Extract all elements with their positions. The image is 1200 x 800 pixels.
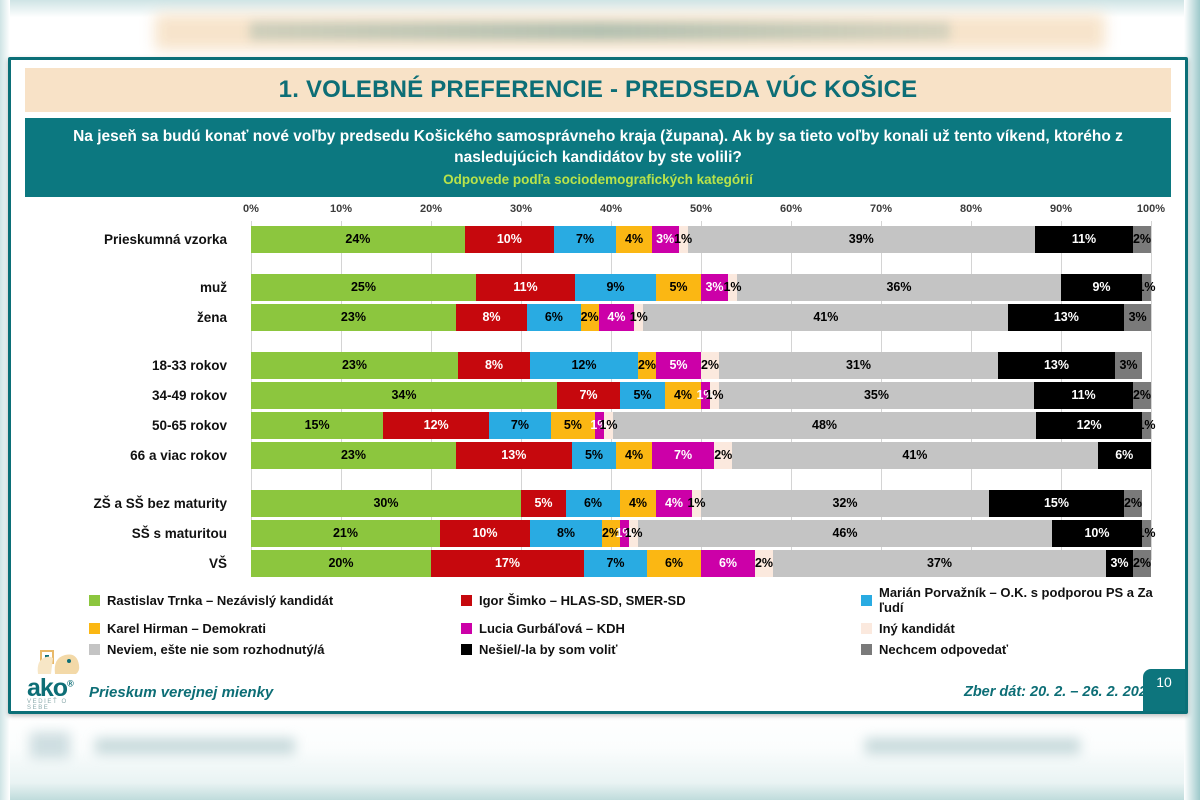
bar-segment[interactable]: 5% [551,412,595,439]
bar-segment-label: 2% [1124,496,1142,510]
chart-row: SŠ s maturitou21%10%8%2%1%1%46%10%1% [11,520,1185,547]
bar-segment[interactable]: 2% [701,352,719,379]
bar-segment[interactable]: 6% [701,550,755,577]
bar-segment[interactable]: 15% [989,490,1124,517]
legend-swatch [861,595,872,606]
legend-swatch [861,623,872,634]
bar-segment-label: 3% [705,280,723,294]
bar-segment-label: 10% [497,232,522,246]
bar-segment[interactable]: 5% [656,352,701,379]
bar-segment-label: 5% [669,358,687,372]
bar-segment-label: 6% [665,556,683,570]
bar-segment-label: 12% [571,358,596,372]
chart-row-label: žena [15,310,237,325]
logo-tagline: VEDIEŤ O SEBE [27,699,87,711]
bar-segment-label: 4% [625,448,643,462]
chart-row-label: 66 a viac rokov [15,448,237,463]
bar-segment[interactable]: 1% [1142,274,1151,301]
bar-segment-label: 6% [584,496,602,510]
legend-swatch [461,623,472,634]
bar-segment[interactable]: 6% [527,304,580,331]
bar-segment[interactable]: 39% [688,226,1035,253]
question-text: Na jeseň sa budú konať nové voľby predse… [55,127,1141,169]
slide-card: 1. VOLEBNÉ PREFERENCIE - PREDSEDA VÚC KO… [8,57,1188,714]
bar-segment[interactable]: 2% [638,352,656,379]
bar-segment-label: 5% [633,388,651,402]
question-subtitle: Odpovede podľa sociodemografických kateg… [55,172,1141,187]
bar-segment-label: 8% [557,526,575,540]
bar-segment[interactable]: 41% [643,304,1008,331]
bar-segment-label: 12% [424,418,449,432]
bar-segment-label: 41% [902,448,927,462]
bar-segment[interactable]: 10% [440,520,530,547]
bar-segment-label: 2% [581,310,599,324]
bar-segment[interactable]: 6% [566,490,620,517]
ghost-bottom-area [0,714,1200,800]
x-axis-tick: 0% [243,203,259,215]
bar-segment-label: 15% [305,418,330,432]
legend-label: Iný kandidát [879,621,955,636]
bar-segment-label: 5% [534,496,552,510]
bar-segment[interactable]: 11% [476,274,575,301]
bar-segment[interactable]: 23% [251,304,456,331]
bar-segment[interactable]: 12% [383,412,489,439]
bar-segment-label: 15% [1044,496,1069,510]
bar-segment[interactable]: 5% [620,382,665,409]
chart-row-label: SŠ s maturitou [15,526,237,541]
bar-segment-label: 2% [714,448,732,462]
legend-label: Marián Porvažník – O.K. s podporou PS a … [879,585,1165,615]
bar-segment-label: 7% [674,448,692,462]
bar-segment[interactable]: 3% [1115,352,1142,379]
legend-item[interactable]: Marián Porvažník – O.K. s podporou PS a … [861,585,1165,615]
bar-segment-label: 23% [341,310,366,324]
x-axis-tick: 80% [960,203,982,215]
bar-segment-label: 4% [607,310,625,324]
ghost-title-text [250,22,950,40]
bar-segment-label: 25% [351,280,376,294]
bar-segment-label: 6% [1115,448,1133,462]
bar-segment[interactable]: 5% [656,274,701,301]
bar-segment-label: 9% [1092,280,1110,294]
bar-segment-label: 3% [1129,310,1147,324]
bar-segment-label: 10% [1084,526,1109,540]
bar-segment[interactable]: 2% [755,550,773,577]
bar-segment[interactable]: 2% [581,304,599,331]
bar-segment[interactable]: 8% [530,520,602,547]
bar-segment-label: 35% [864,388,889,402]
bar-segment[interactable]: 4% [616,442,652,469]
bar-segment[interactable]: 1% [1142,412,1151,439]
bar-segment[interactable]: 3% [1106,550,1133,577]
stacked-bar[interactable]: 15%12%7%5%1%1%48%12%1% [251,412,1151,439]
bar-segment-label: 23% [341,448,366,462]
bar-segment[interactable]: 4% [620,490,656,517]
x-axis-tick: 90% [1050,203,1072,215]
bar-segment[interactable]: 2% [1133,382,1151,409]
chart-row-label: 50-65 rokov [15,418,237,433]
bar-segment-label: 6% [545,310,563,324]
bar-segment[interactable]: 25% [251,274,476,301]
bar-segment[interactable]: 34% [251,382,557,409]
x-axis-tick: 70% [870,203,892,215]
bar-segment-label: 4% [674,388,692,402]
legend-swatch [89,623,100,634]
bar-segment-label: 1% [723,280,741,294]
chart-row-label: VŠ [15,556,237,571]
bar-segment-label: 1% [630,310,648,324]
legend-label: Lucia Gurbáľová – KDH [479,621,625,636]
stacked-bar[interactable]: 34%7%5%4%1%1%35%11%2% [251,382,1151,409]
bar-segment-label: 6% [719,556,737,570]
bar-segment-label: 2% [1133,388,1151,402]
stacked-bar[interactable]: 23%13%5%4%7%2%41%6% [251,442,1151,469]
bar-segment-label: 1% [705,388,723,402]
chart-row: Prieskumná vzorka24%10%7%4%3%1%39%11%2% [11,226,1185,253]
bar-segment-label: 2% [1133,232,1151,246]
bar-segment[interactable]: 9% [1061,274,1142,301]
chart-row: 50-65 rokov15%12%7%5%1%1%48%12%1% [11,412,1185,439]
bar-segment[interactable]: 6% [647,550,701,577]
bar-segment-label: 3% [656,232,674,246]
bar-segment-label: 7% [576,232,594,246]
legend-item[interactable]: Neviem, ešte nie som rozhodnutý/á [89,642,461,657]
chart-row-label: 18-33 rokov [15,358,237,373]
bar-segment-label: 36% [886,280,911,294]
bar-segment-label: 1% [674,232,692,246]
bar-segment-label: 24% [345,232,370,246]
bar-segment[interactable]: 7% [554,226,616,253]
ghost-logo-blur [30,732,70,758]
bar-segment[interactable]: 3% [1124,304,1151,331]
chart-row-label: 34-49 rokov [15,388,237,403]
bar-segment-label: 8% [485,358,503,372]
chart-row: žena23%8%6%2%4%1%41%13%3% [11,304,1185,331]
bar-segment[interactable]: 24% [251,226,465,253]
x-axis-tick: 100% [1137,203,1165,215]
stacked-bar[interactable]: 21%10%8%2%1%1%46%10%1% [251,520,1151,547]
bar-segment-label: 32% [832,496,857,510]
bar-segment[interactable]: 7% [652,442,714,469]
chart-legend: Rastislav Trnka – Nezávislý kandidátIgor… [89,585,1165,657]
bar-segment-label: 1% [1137,526,1155,540]
bar-segment[interactable]: 35% [719,382,1034,409]
legend-item[interactable]: Nešiel/-la by som voliť [461,642,861,657]
bar-segment[interactable]: 5% [572,442,617,469]
bar-segment[interactable]: 46% [638,520,1052,547]
bar-segment-label: 8% [482,310,500,324]
legend-item[interactable]: Igor Šimko – HLAS-SD, SMER-SD [461,585,861,615]
chart-plot-area: Prieskumná vzorka24%10%7%4%3%1%39%11%2%m… [11,221,1185,568]
legend-item[interactable]: Iný kandidát [861,621,1165,636]
bar-segment[interactable]: 20% [251,550,431,577]
ako-logo: ako® VEDIEŤ O SEBE [25,648,87,710]
bar-segment[interactable]: 6% [1098,442,1151,469]
legend-label: Neviem, ešte nie som rozhodnutý/á [107,642,324,657]
page-number-badge: 10 [1143,669,1185,711]
stacked-bar[interactable]: 23%8%12%2%5%2%31%13%3% [251,352,1151,379]
legend-item[interactable]: Nechcem odpovedať [861,642,1165,657]
bar-segment-label: 9% [606,280,624,294]
legend-item[interactable]: Rastislav Trnka – Nezávislý kandidát [89,585,461,615]
legend-label: Igor Šimko – HLAS-SD, SMER-SD [479,593,686,608]
stacked-bar-chart: 0%10%20%30%40%50%60%70%80%90%100% Priesk… [11,203,1185,568]
legend-label: Karel Hirman – Demokrati [107,621,266,636]
chart-row: ZŠ a SŠ bez maturity30%5%6%4%4%1%32%15%2… [11,490,1185,517]
bar-segment[interactable]: 1% [629,520,638,547]
bar-segment-label: 1% [599,418,617,432]
bar-segment-label: 31% [846,358,871,372]
bar-segment[interactable]: 1% [1142,520,1151,547]
bar-segment-label: 1% [687,496,705,510]
bar-segment[interactable]: 10% [1052,520,1142,547]
bar-segment-label: 13% [1044,358,1069,372]
bar-segment[interactable]: 1% [728,274,737,301]
bar-segment-label: 5% [564,418,582,432]
bar-segment-label: 37% [927,556,952,570]
bar-segment[interactable]: 1% [634,304,643,331]
bar-segment-label: 7% [511,418,529,432]
bar-segment-label: 11% [513,280,537,294]
bar-segment[interactable]: 7% [489,412,551,439]
legend-swatch [461,595,472,606]
bar-segment[interactable]: 23% [251,352,458,379]
stacked-bar[interactable]: 23%8%6%2%4%1%41%13%3% [251,304,1151,331]
bar-segment[interactable]: 30% [251,490,521,517]
chart-row: VŠ20%17%7%6%6%2%37%3%2% [11,550,1185,577]
bar-segment-label: 4% [625,232,643,246]
chart-row-label: ZŠ a SŠ bez maturity [15,496,237,511]
bar-segment-label: 41% [813,310,838,324]
stacked-bar[interactable]: 30%5%6%4%4%1%32%15%2% [251,490,1151,517]
chart-row-label: Prieskumná vzorka [15,232,237,247]
bar-segment-label: 17% [495,556,520,570]
legend-label: Nechcem odpovedať [879,642,1008,657]
legend-item[interactable]: Lucia Gurbáľová – KDH [461,621,861,636]
footer: Prieskum verejnej mienky Zber dát: 20. 2… [11,672,1185,714]
bar-segment-label: 46% [832,526,857,540]
bar-segment[interactable]: 7% [584,550,647,577]
bar-segment[interactable]: 13% [998,352,1115,379]
bar-segment[interactable]: 11% [1034,382,1133,409]
bar-segment-label: 12% [1077,418,1102,432]
ghost-footer-right-blur [865,738,1080,754]
bar-segment[interactable]: 1% [710,382,719,409]
title-band: 1. VOLEBNÉ PREFERENCIE - PREDSEDA VÚC KO… [25,68,1171,112]
bar-segment-label: 34% [391,388,416,402]
legend-label: Nešiel/-la by som voliť [479,642,617,657]
x-axis-ticks: 0%10%20%30%40%50%60%70%80%90%100% [11,203,1185,221]
chart-row: 34-49 rokov34%7%5%4%1%1%35%11%2% [11,382,1185,409]
bar-segment[interactable]: 37% [773,550,1106,577]
bar-segment-label: 23% [342,358,367,372]
question-band: Na jeseň sa budú konať nové voľby predse… [25,118,1171,197]
bar-segment-label: 2% [755,556,773,570]
footer-right-text: Zber dát: 20. 2. – 26. 2. 2026 [964,684,1155,700]
ghost-footer-left-blur [95,738,295,754]
bar-segment[interactable]: 41% [732,442,1097,469]
x-axis-tick: 20% [420,203,442,215]
bar-segment[interactable]: 32% [701,490,989,517]
x-axis-tick: 60% [780,203,802,215]
legend-swatch [89,644,100,655]
bar-segment[interactable]: 7% [557,382,620,409]
logo-registered-mark: ® [67,679,73,689]
page-title: 1. VOLEBNÉ PREFERENCIE - PREDSEDA VÚC KO… [279,76,918,104]
bar-segment[interactable]: 13% [1008,304,1124,331]
bar-segment-label: 3% [1110,556,1128,570]
x-axis-tick: 30% [510,203,532,215]
bar-segment-label: 10% [472,526,497,540]
bar-segment[interactable]: 48% [613,412,1036,439]
bar-segment[interactable]: 1% [692,490,701,517]
bar-segment-label: 7% [606,556,624,570]
bar-segment-label: 5% [669,280,687,294]
legend-item[interactable]: Karel Hirman – Demokrati [89,621,461,636]
stacked-bar[interactable]: 25%11%9%5%3%1%36%9%1% [251,274,1151,301]
bar-segment[interactable]: 36% [737,274,1061,301]
bar-segment[interactable]: 1% [679,226,688,253]
bar-segment[interactable]: 23% [251,442,456,469]
legend-swatch [89,595,100,606]
bar-segment-label: 2% [701,358,719,372]
bar-segment[interactable]: 2% [714,442,732,469]
bar-segment-label: 30% [373,496,398,510]
legend-label: Rastislav Trnka – Nezávislý kandidát [107,593,333,608]
bar-segment[interactable]: 2% [1133,550,1151,577]
stacked-bar[interactable]: 20%17%7%6%6%2%37%3%2% [251,550,1151,577]
bar-segment-label: 4% [665,496,683,510]
chart-row: 18-33 rokov23%8%12%2%5%2%31%13%3% [11,352,1185,379]
bar-segment-label: 3% [1119,358,1137,372]
bar-segment-label: 1% [624,526,642,540]
bar-segment[interactable]: 10% [465,226,554,253]
bar-segment-label: 13% [1054,310,1079,324]
bar-segment[interactable]: 21% [251,520,440,547]
bar-segment[interactable]: 2% [1124,490,1142,517]
bar-segment-label: 39% [849,232,874,246]
legend-swatch [461,644,472,655]
bar-segment-label: 2% [1133,556,1151,570]
bar-segment[interactable]: 13% [456,442,572,469]
bar-segment[interactable]: 12% [1036,412,1142,439]
bar-segment[interactable]: 12% [530,352,638,379]
bar-segment-label: 7% [579,388,597,402]
bar-segment[interactable]: 5% [521,490,566,517]
bar-segment-label: 5% [585,448,603,462]
bar-segment-label: 11% [1072,232,1096,246]
bar-segment-label: 4% [629,496,647,510]
bar-segment[interactable]: 4% [616,226,652,253]
chart-row: 66 a viac rokov23%13%5%4%7%2%41%6% [11,442,1185,469]
bar-segment[interactable]: 11% [1035,226,1133,253]
bar-segment-label: 1% [1137,418,1155,432]
bar-segment-label: 13% [501,448,526,462]
bar-segment[interactable]: 2% [1133,226,1151,253]
bar-segment[interactable]: 15% [251,412,383,439]
bar-segment-label: 20% [328,556,353,570]
bar-segment-label: 2% [638,358,656,372]
stacked-bar[interactable]: 24%10%7%4%3%1%39%11%2% [251,226,1151,253]
bar-segment[interactable]: 31% [719,352,998,379]
chart-row: muž25%11%9%5%3%1%36%9%1% [11,274,1185,301]
bar-segment-label: 1% [1137,280,1155,294]
bar-segment-label: 21% [333,526,358,540]
bar-segment[interactable]: 8% [456,304,527,331]
footer-left-text: Prieskum verejnej mienky [89,684,273,701]
bar-segment-label: 11% [1071,388,1095,402]
chart-row-label: muž [15,280,237,295]
x-axis-tick: 10% [330,203,352,215]
bar-segment[interactable]: 8% [458,352,530,379]
x-axis-tick: 40% [600,203,622,215]
bar-segment-label: 48% [812,418,837,432]
bar-segment[interactable]: 17% [431,550,584,577]
x-axis-tick: 50% [690,203,712,215]
bar-segment[interactable]: 9% [575,274,656,301]
legend-swatch [861,644,872,655]
bar-segment[interactable]: 1% [604,412,613,439]
